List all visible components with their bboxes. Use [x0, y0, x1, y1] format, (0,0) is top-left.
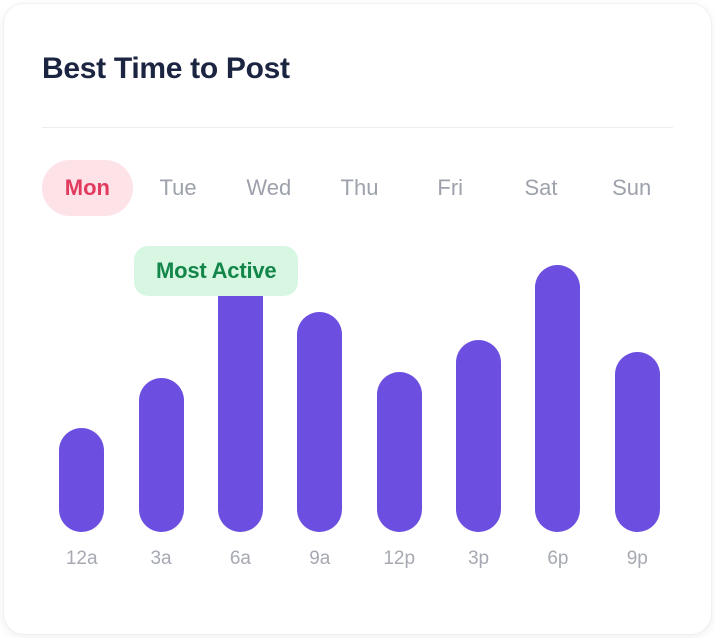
most-active-badge: Most Active — [134, 246, 298, 296]
day-tab-bar: MonTueWedThuFriSatSun — [42, 159, 677, 217]
page-title: Best Time to Post — [42, 52, 290, 86]
bar-6p[interactable] — [535, 265, 580, 532]
x-label-3a: 3a — [121, 548, 200, 570]
bar-slot — [518, 234, 597, 532]
day-tab-wed[interactable]: Wed — [223, 160, 314, 216]
bar-12p[interactable] — [377, 372, 422, 532]
day-tab-sun[interactable]: Sun — [586, 160, 677, 216]
activity-chart: Most Active 12a3a6a9a12p3p6p9p — [42, 234, 677, 594]
day-tab-thu[interactable]: Thu — [314, 160, 405, 216]
day-tab-sat[interactable]: Sat — [496, 160, 587, 216]
chart-x-axis-labels: 12a3a6a9a12p3p6p9p — [42, 544, 677, 574]
bar-3a[interactable] — [139, 378, 184, 532]
title-divider — [42, 127, 673, 128]
x-label-6p: 6p — [518, 548, 597, 570]
bar-slot — [360, 234, 439, 532]
bar-9a[interactable] — [297, 312, 342, 532]
x-label-6a: 6a — [201, 548, 280, 570]
bar-3p[interactable] — [456, 340, 501, 532]
bar-9p[interactable] — [615, 352, 660, 532]
bar-12a[interactable] — [59, 428, 104, 532]
bar-slot — [42, 234, 121, 532]
day-tab-fri[interactable]: Fri — [405, 160, 496, 216]
x-label-12p: 12p — [360, 548, 439, 570]
x-label-9p: 9p — [598, 548, 677, 570]
day-tab-tue[interactable]: Tue — [133, 160, 224, 216]
x-label-9a: 9a — [280, 548, 359, 570]
day-tab-mon[interactable]: Mon — [42, 160, 133, 216]
x-label-12a: 12a — [42, 548, 121, 570]
bar-slot — [598, 234, 677, 532]
best-time-to-post-card: Best Time to Post MonTueWedThuFriSatSun … — [4, 4, 711, 634]
bar-slot — [439, 234, 518, 532]
x-label-3p: 3p — [439, 548, 518, 570]
